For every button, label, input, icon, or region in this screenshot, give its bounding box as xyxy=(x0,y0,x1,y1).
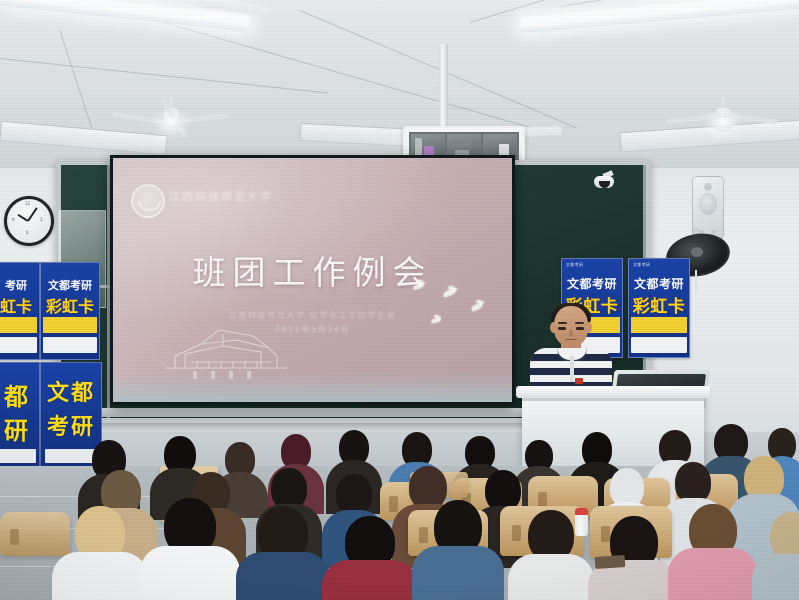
clock-tick: 9 xyxy=(12,217,15,222)
lectern-edge xyxy=(522,398,704,401)
poster-big-line1: 都 xyxy=(0,377,39,412)
wall-clock: 12 3 6 9 xyxy=(4,196,54,246)
presenter-badge xyxy=(575,378,583,384)
audience-person-front xyxy=(140,498,240,600)
dome-camera-icon xyxy=(594,172,616,188)
poster-line1: 文都考研 xyxy=(562,275,622,292)
ceiling-fan xyxy=(686,96,760,136)
lectern-top-surface xyxy=(516,386,710,398)
presenter-eye xyxy=(576,327,584,330)
poster-big-line2: 考研 xyxy=(41,409,101,441)
poster-white-band xyxy=(43,337,96,353)
clock-tick: 3 xyxy=(40,217,43,222)
poster-line2: 彩虹卡 xyxy=(629,292,689,317)
projector-part xyxy=(452,140,470,147)
poster-white-band xyxy=(0,449,36,463)
poster-line2: 虹卡 xyxy=(0,293,39,317)
campus-building-graphic xyxy=(161,322,291,380)
clock-tick: 12 xyxy=(25,201,30,206)
poster-brand: 文都考研 xyxy=(633,262,650,268)
poster-line1: 文都考研 xyxy=(629,275,689,292)
speaker-tweeter xyxy=(704,183,712,191)
speaker-driver xyxy=(699,193,717,215)
audience-person-front xyxy=(508,510,594,600)
presenter-brow xyxy=(558,322,567,324)
fan-cord xyxy=(695,270,697,294)
slide-subtitle: 江西科技师范大学 化学化工学院学生会 xyxy=(113,310,512,321)
poster-white-band xyxy=(631,337,686,353)
audience-person-front xyxy=(668,504,758,600)
mobile-phone xyxy=(595,555,626,569)
presenter-brow xyxy=(575,322,584,324)
classroom-photo-scene: 12 3 6 9 江西科技师范大学 班团工作例会 江西科技师范大学 化学化工学院… xyxy=(0,0,799,600)
poster-wendu-big-1: 都 研 xyxy=(0,362,40,470)
audience-person-front xyxy=(412,500,504,600)
ceiling-seam xyxy=(0,108,799,109)
audience-person-front xyxy=(52,506,148,600)
poster-wendu-left-1: 考研 虹卡 xyxy=(0,262,40,360)
projector-mount-rod xyxy=(439,44,448,132)
clock-tick: 6 xyxy=(26,230,29,235)
poster-big-line2: 研 xyxy=(0,411,39,446)
audience-person-front xyxy=(322,516,418,600)
poster-wendu-left-2: 文都考研 彩虹卡 xyxy=(40,262,100,360)
presentation-slide: 江西科技师范大学 班团工作例会 江西科技师范大学 化学化工学院学生会 2021年… xyxy=(113,158,512,402)
poster-line2: 彩虹卡 xyxy=(41,293,99,317)
slide-organization-text: 江西科技师范大学 xyxy=(169,188,273,204)
university-emblem-icon xyxy=(131,184,165,218)
fan-hub xyxy=(691,247,703,257)
poster-brand: 文都考研 xyxy=(566,262,583,268)
presenter-ear xyxy=(585,322,592,333)
clock-minute-hand xyxy=(27,207,38,221)
poster-white-band xyxy=(0,337,37,353)
poster-yellow-band xyxy=(0,317,37,333)
presenter-nose xyxy=(569,330,573,337)
poster-yellow-band xyxy=(631,317,686,333)
poster-wendu-right-2: 文都考研 文都考研 彩虹卡 xyxy=(628,258,690,358)
poster-yellow-band xyxy=(43,317,96,333)
shirt-placket xyxy=(570,356,574,382)
audience-person-front xyxy=(752,512,799,600)
fan-lamp xyxy=(712,118,734,132)
audience-person-front xyxy=(236,506,330,600)
poster-big-line1: 文都 xyxy=(41,375,101,407)
presenter-eye xyxy=(558,327,566,330)
poster-line1: 文都考研 xyxy=(41,277,99,293)
presenter-ear xyxy=(550,322,557,333)
projection-screen: 江西科技师范大学 班团工作例会 江西科技师范大学 化学化工学院学生会 2021年… xyxy=(110,155,515,405)
poster-line1: 考研 xyxy=(0,277,39,293)
ceiling-fan xyxy=(134,96,208,136)
